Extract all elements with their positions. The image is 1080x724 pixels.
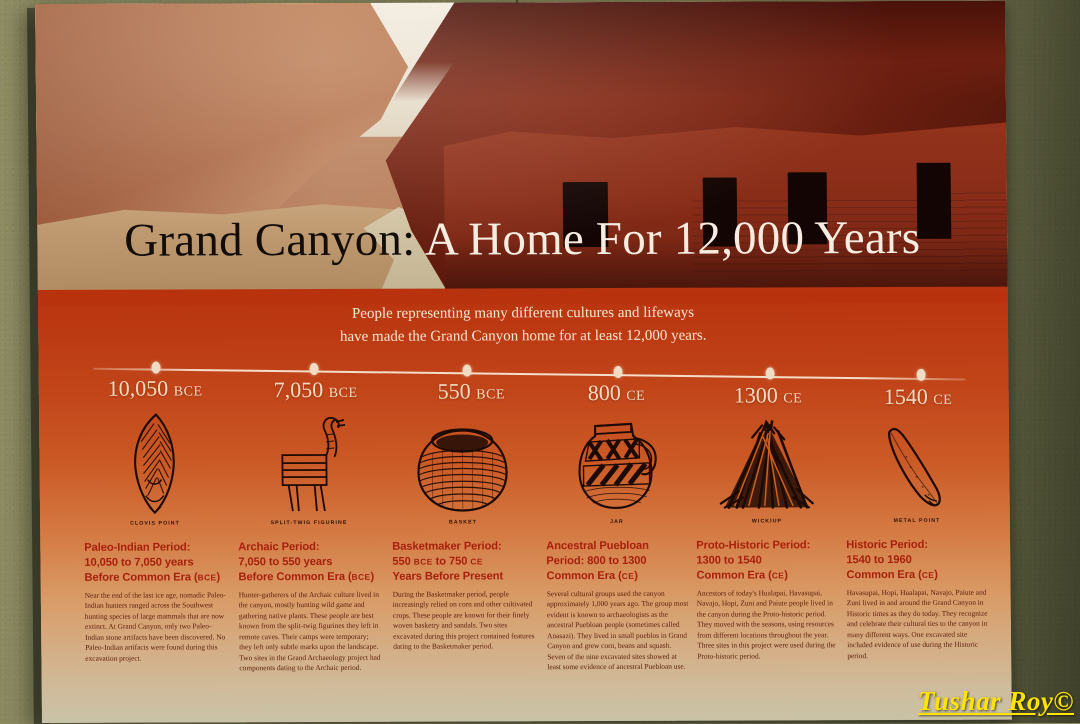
period-heading-2-line1: Archaic Period: bbox=[238, 540, 380, 555]
timeline-value-3: 550 bbox=[438, 378, 471, 403]
period-heading-3-era-a: BCE bbox=[414, 556, 433, 566]
watermark-text: Tushar Roy© bbox=[918, 686, 1074, 716]
metal-point-icon bbox=[880, 417, 953, 513]
artifact-caption-1: CLOVIS POINT bbox=[84, 520, 226, 526]
coiled-basket-icon bbox=[410, 422, 515, 514]
clovis-point-icon bbox=[123, 411, 186, 515]
clovis-point-illustration bbox=[83, 405, 226, 515]
period-heading-6-line3: Common Era (CE) bbox=[846, 567, 988, 582]
split-twig-figurine-icon bbox=[270, 411, 347, 515]
period-column-archaic: SPLIT-TWIG FIGURINE Archaic Period: 7,05… bbox=[237, 405, 382, 674]
timeline-dot-1 bbox=[151, 362, 160, 374]
timeline-value-2: 7,050 bbox=[274, 377, 324, 402]
period-heading-5-era-prefix: Common Era ( bbox=[696, 569, 771, 581]
period-heading-1-line1: Paleo-Indian Period: bbox=[84, 540, 226, 555]
metal-point-illustration bbox=[845, 403, 988, 513]
photographer-watermark: Tushar Roy© bbox=[918, 686, 1074, 717]
period-heading-1-era: BCE bbox=[198, 572, 217, 582]
subtitle: People representing many different cultu… bbox=[38, 301, 1008, 351]
artifact-caption-5: WICKIUP bbox=[696, 518, 838, 524]
page-title: Grand Canyon: A Home For 12,000 Years bbox=[37, 215, 1007, 265]
period-column-paleo-indian: CLOVIS POINT Paleo-Indian Period: 10,050… bbox=[83, 405, 227, 664]
period-heading-2-line3: Before Common Era (BCE) bbox=[238, 570, 380, 585]
period-heading-2-era-suffix: ) bbox=[370, 571, 374, 583]
exhibit-panel: Grand Canyon: A Home For 12,000 Years Pe… bbox=[35, 1, 1012, 723]
wickiup-icon bbox=[712, 417, 821, 513]
period-body-6: Havasupai, Hopi, Hualapai, Navajo, Paiut… bbox=[847, 587, 990, 661]
period-body-2: Hunter-gatherers of the Archaic culture … bbox=[239, 589, 382, 674]
subtitle-line-2: have made the Grand Canyon home for at l… bbox=[38, 324, 1008, 351]
artifact-caption-2: SPLIT-TWIG FIGURINE bbox=[238, 520, 380, 526]
period-body-1: Near the end of the last ice age, nomadi… bbox=[85, 590, 228, 664]
period-heading-4-line2: Period: 800 to 1300 bbox=[546, 554, 688, 569]
period-heading-6-line2: 1540 to 1960 bbox=[846, 553, 988, 568]
timeline-era-2: BCE bbox=[329, 386, 358, 401]
period-heading-2-line2: 7,050 to 550 years bbox=[238, 555, 380, 570]
period-heading-2-era: BCE bbox=[352, 572, 371, 582]
period-heading-3-line1: Basketmaker Period: bbox=[392, 539, 534, 554]
period-heading-6-era-prefix: Common Era ( bbox=[846, 569, 921, 581]
period-heading-3-era-b: CE bbox=[470, 556, 483, 566]
timeline-label-3: 550 BCE bbox=[438, 378, 505, 404]
jar-illustration bbox=[545, 404, 688, 514]
artifact-caption-4: JAR bbox=[546, 519, 688, 525]
period-heading-1-line2: 10,050 to 7,050 years bbox=[84, 555, 226, 570]
title-light-part: A Home For 12,000 Years bbox=[424, 212, 920, 266]
timeline-label-1: 10,050 BCE bbox=[108, 375, 203, 401]
period-heading-5-era-suffix: ) bbox=[784, 569, 788, 581]
period-heading-3-val-b: to 750 bbox=[433, 555, 471, 567]
period-heading-4: Ancestral Puebloan Period: 800 to 1300 C… bbox=[546, 539, 688, 584]
painted-jar-icon bbox=[569, 414, 664, 514]
period-heading-4-era: CE bbox=[622, 571, 635, 581]
period-heading-5-line1: Proto-Historic Period: bbox=[696, 538, 838, 553]
wickiup-illustration bbox=[695, 403, 838, 513]
info-board: People representing many different cultu… bbox=[38, 287, 1012, 723]
timeline-label-2: 7,050 BCE bbox=[274, 377, 358, 403]
period-heading-6-line1: Historic Period: bbox=[846, 538, 988, 553]
title-dark-part: Grand Canyon: bbox=[124, 214, 416, 267]
period-heading-3-val-a: 550 bbox=[392, 556, 413, 568]
period-heading-5-era: CE bbox=[772, 570, 785, 580]
period-heading-4-line1: Ancestral Puebloan bbox=[546, 539, 688, 554]
artifact-caption-3: BASKET bbox=[392, 519, 534, 525]
timeline-era-1: BCE bbox=[174, 384, 203, 399]
timeline-value-4: 800 bbox=[588, 380, 621, 405]
period-heading-4-era-prefix: Common Era ( bbox=[546, 570, 621, 582]
period-heading-3-line3: Years Before Present bbox=[392, 569, 534, 584]
basket-illustration bbox=[391, 404, 534, 514]
period-body-5: Ancestors of today's Hualapai, Havasupai… bbox=[697, 588, 840, 662]
period-body-3: During the Basketmaker period, people in… bbox=[393, 589, 536, 653]
timeline-era-3: BCE bbox=[476, 387, 505, 402]
period-heading-3: Basketmaker Period: 550 BCE to 750 CE Ye… bbox=[392, 539, 534, 584]
period-column-ancestral-puebloan: JAR Ancestral Puebloan Period: 800 to 13… bbox=[545, 404, 690, 673]
period-heading-4-era-suffix: ) bbox=[634, 570, 638, 582]
timeline-label-4: 800 CE bbox=[588, 380, 646, 406]
period-heading-2-era-prefix: Before Common Era ( bbox=[238, 571, 351, 583]
period-column-proto-historic: WICKIUP Proto-Historic Period: 1300 to 1… bbox=[695, 403, 839, 662]
period-heading-5-line2: 1300 to 1540 bbox=[696, 553, 838, 568]
timeline-value-1: 10,050 bbox=[108, 376, 169, 401]
timeline-era-4: CE bbox=[626, 389, 645, 404]
period-heading-1-line3: Before Common Era (BCE) bbox=[84, 570, 226, 585]
timeline-dot-2 bbox=[309, 363, 318, 375]
period-heading-1: Paleo-Indian Period: 10,050 to 7,050 yea… bbox=[84, 540, 226, 585]
period-heading-4-line3: Common Era (CE) bbox=[546, 568, 688, 583]
period-body-4: Several cultural groups used the canyon … bbox=[547, 588, 690, 673]
period-heading-1-era-suffix: ) bbox=[216, 571, 220, 583]
split-twig-figurine-illustration bbox=[237, 405, 380, 515]
subtitle-line-1: People representing many different cultu… bbox=[38, 301, 1008, 328]
period-column-basketmaker: BASKET Basketmaker Period: 550 BCE to 75… bbox=[391, 404, 535, 652]
period-heading-6-era-suffix: ) bbox=[934, 569, 938, 581]
period-heading-5: Proto-Historic Period: 1300 to 1540 Comm… bbox=[696, 538, 838, 583]
period-heading-1-era-prefix: Before Common Era ( bbox=[84, 571, 197, 583]
period-heading-6: Historic Period: 1540 to 1960 Common Era… bbox=[846, 538, 988, 583]
period-heading-5-line3: Common Era (CE) bbox=[696, 568, 838, 583]
period-heading-6-era: CE bbox=[922, 570, 935, 580]
period-heading-2: Archaic Period: 7,050 to 550 years Befor… bbox=[238, 540, 380, 585]
period-heading-3-line2: 550 BCE to 750 CE bbox=[392, 554, 534, 569]
period-column-historic: METAL POINT Historic Period: 1540 to 196… bbox=[845, 403, 989, 662]
artifact-caption-6: METAL POINT bbox=[846, 518, 988, 524]
